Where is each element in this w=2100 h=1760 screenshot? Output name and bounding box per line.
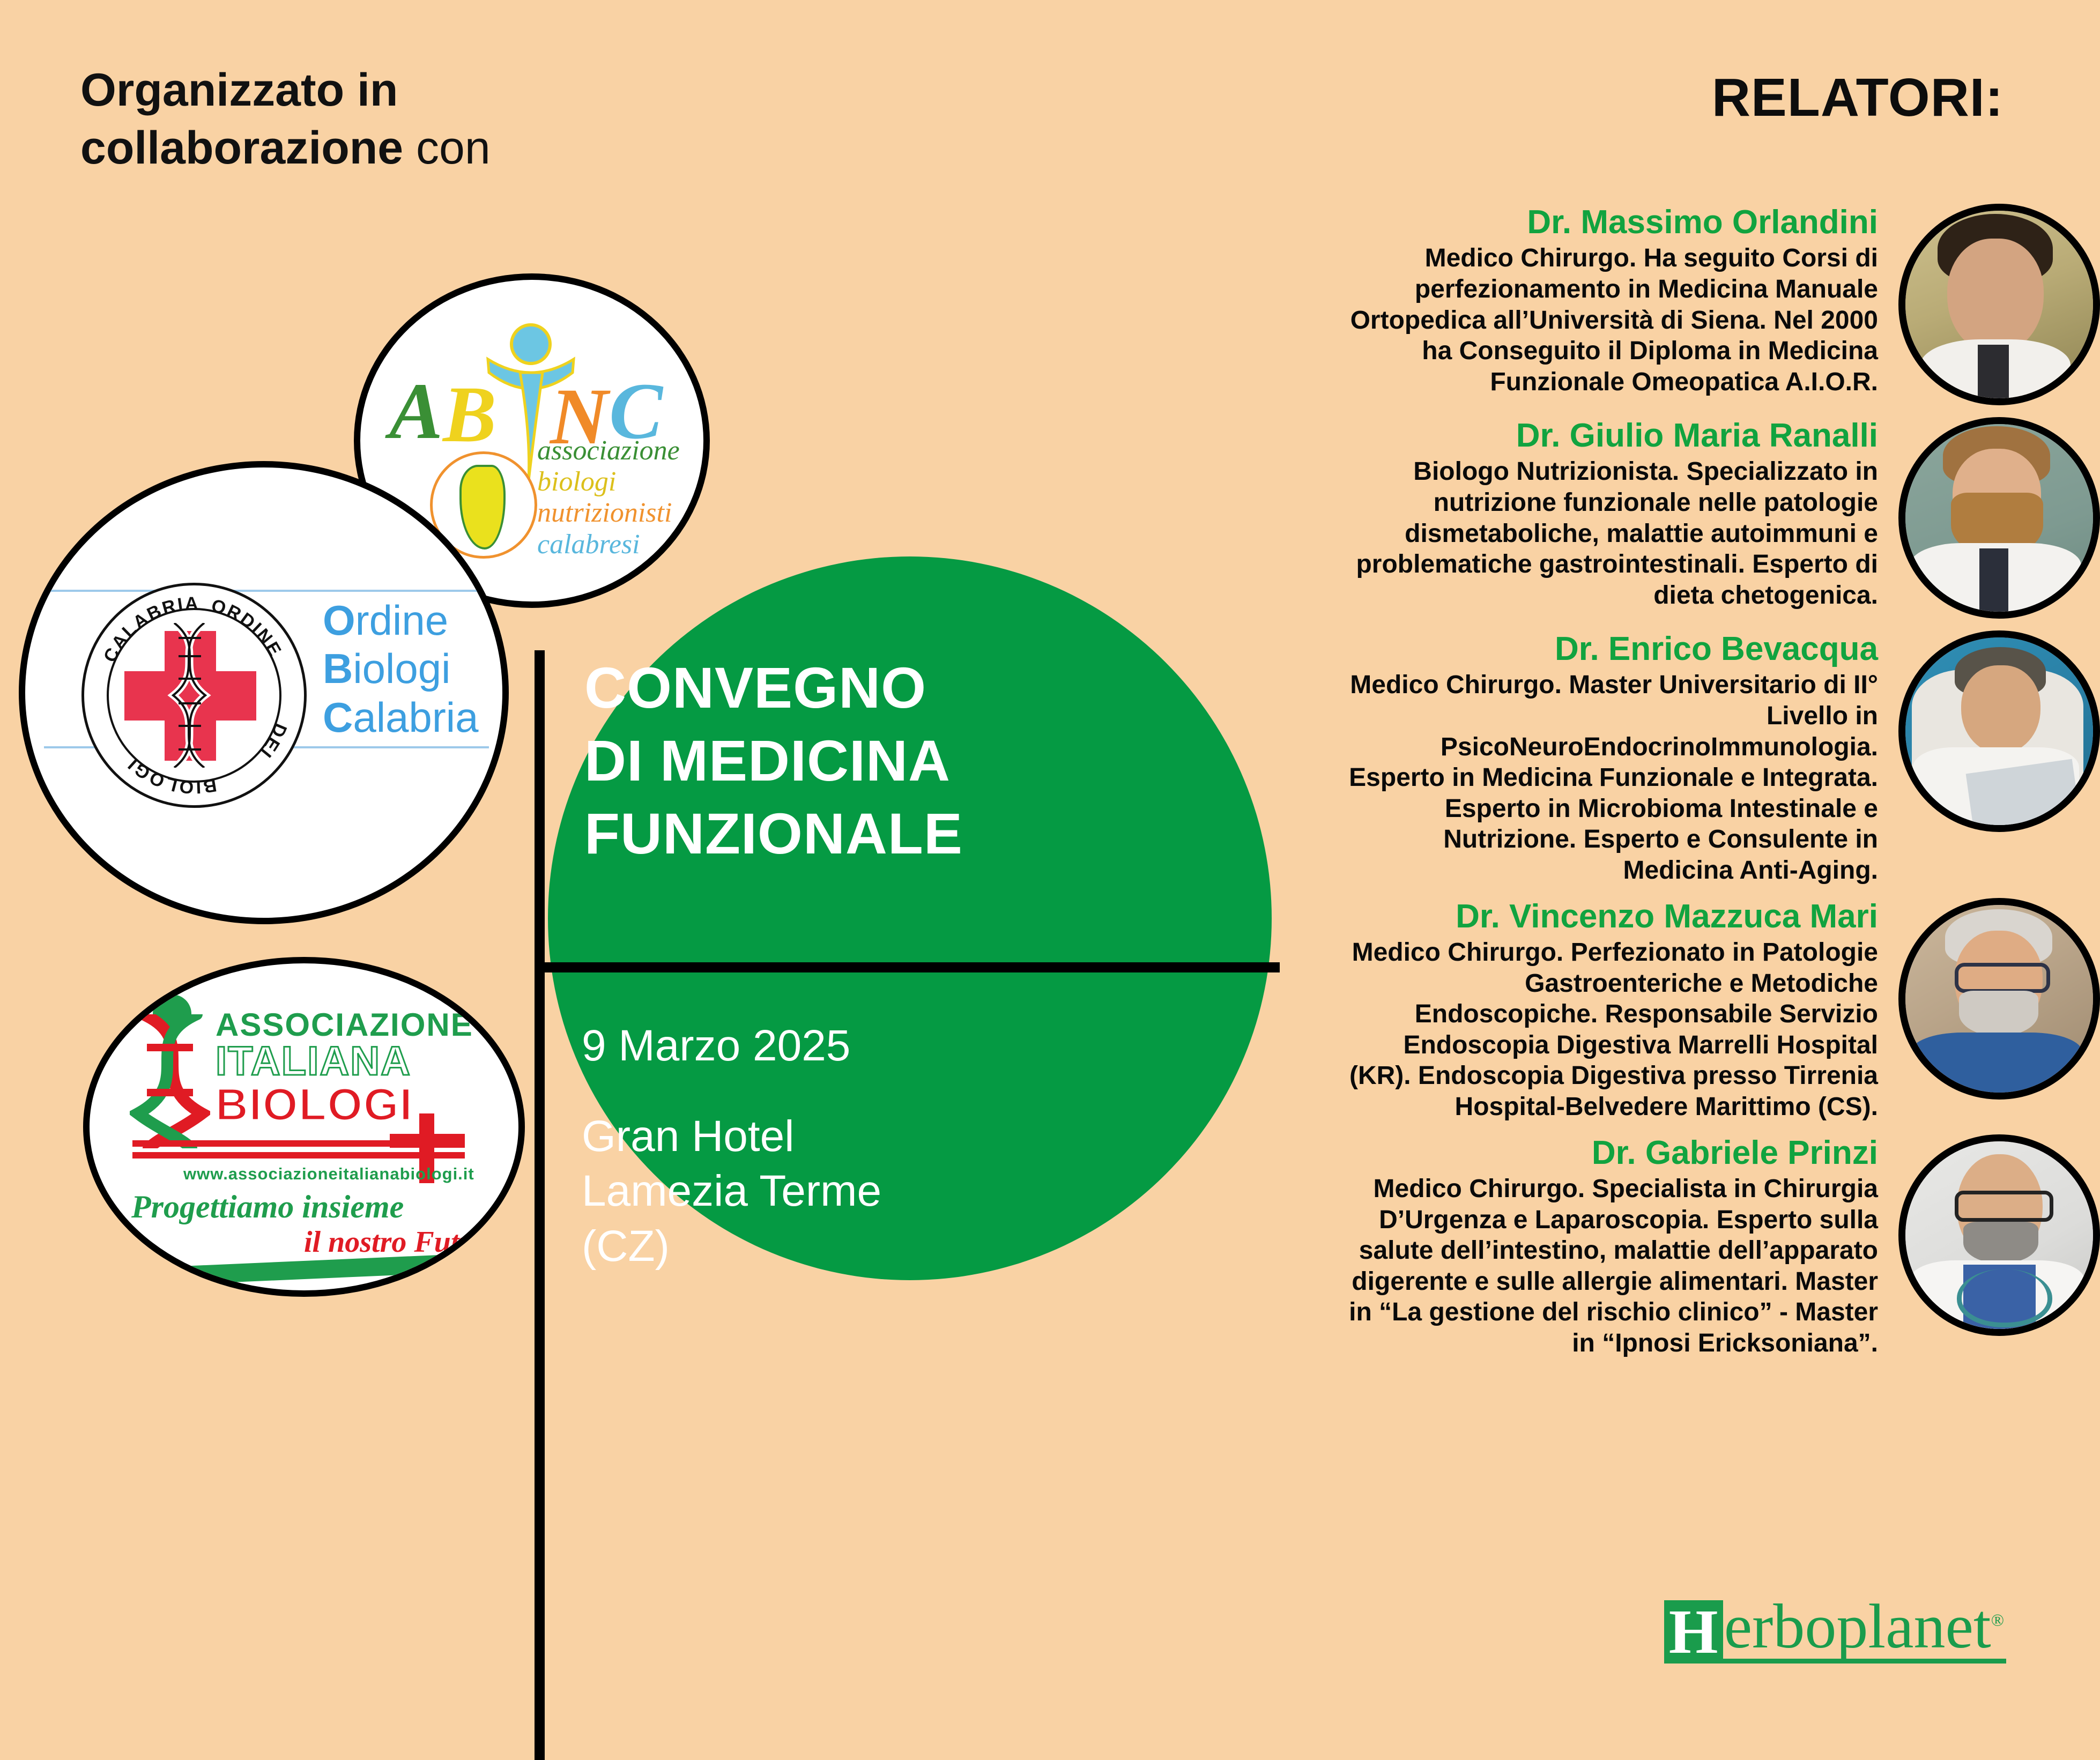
event-title-line-1: CONVEGNO: [584, 651, 1201, 724]
speaker-card: Dr. Massimo Orlandini Medico Chirurgo. H…: [1231, 204, 2100, 405]
speaker-text: Dr. Enrico Bevacqua Medico Chirurgo. Mas…: [1342, 630, 1898, 886]
aib-wordmark: ASSOCIAZIONE ITALIANA BIOLOGI: [216, 1009, 468, 1127]
speaker-name: Dr. Gabriele Prinzi: [1342, 1134, 1878, 1171]
event-title-line-3: FUNZIONALE: [584, 797, 1201, 870]
organizer-line-2-strong: collaborazione: [80, 122, 403, 174]
sponsor-logo-herboplanet: H erboplanet®: [1664, 1596, 2006, 1664]
speaker-bio: Medico Chirurgo. Master Universitario di…: [1342, 670, 1878, 886]
event-venue-line-1: Gran Hotel: [582, 1109, 1198, 1164]
obc-ring-ordine: ORDINE: [209, 595, 286, 660]
herboplanet-wordmark: erboplanet®: [1723, 1596, 2006, 1664]
aib-flag-red-stripe: [90, 1289, 519, 1297]
obc-ring-dei: DEI: [255, 721, 291, 763]
aib-cross-horizontal: [390, 1134, 465, 1148]
speaker-name: Dr. Enrico Bevacqua: [1342, 630, 1878, 667]
svg-text:CALABRIA: CALABRIA: [100, 593, 200, 666]
svg-text:BIOLOGI: BIOLOGI: [123, 753, 218, 797]
event-venue-line-2: Lamezia Terme: [582, 1164, 1198, 1219]
speaker-card: Dr. Enrico Bevacqua Medico Chirurgo. Mas…: [1231, 630, 2100, 886]
poster-canvas: Organizzato in collaborazione con RELATO…: [0, 0, 2100, 1760]
obc-word-calabria: Calabria: [323, 693, 500, 741]
speaker-text: Dr. Massimo Orlandini Medico Chirurgo. H…: [1342, 204, 1898, 397]
svg-text:ORDINE: ORDINE: [209, 595, 286, 660]
organizer-line-2-light: con: [403, 122, 491, 174]
organizer-line-1: Organizzato in: [80, 62, 617, 120]
obc-ring-text: CALABRIA ORDINE DEI BIOLOGI: [84, 585, 304, 805]
event-title: CONVEGNO DI MEDICINA FUNZIONALE: [584, 651, 1201, 870]
speaker-avatar: [1898, 1134, 2100, 1336]
herboplanet-initial: H: [1669, 1605, 1718, 1659]
vertical-rule: [535, 650, 545, 1760]
obc-ring-biologi: BIOLOGI: [123, 753, 218, 797]
speaker-avatar: [1898, 630, 2100, 832]
event-title-line-2: DI MEDICINA: [584, 724, 1201, 797]
obc-word-biologi: Biologi: [323, 644, 500, 693]
speaker-avatar: [1898, 204, 2100, 405]
speaker-text: Dr. Giulio Maria Ranalli Biologo Nutrizi…: [1342, 417, 1898, 611]
abnc-tag-line-4: calabresi: [537, 529, 693, 560]
horizontal-rule: [535, 962, 1280, 972]
logo-associazione-italiana-biologi: ASSOCIAZIONE ITALIANA BIOLOGI www.associ…: [83, 957, 525, 1297]
speaker-name: Dr. Giulio Maria Ranalli: [1342, 417, 1878, 454]
aib-line-2: ITALIANA: [216, 1041, 468, 1082]
abnc-tag-line-2: biologi: [537, 466, 693, 497]
logo-ordine-biologi-calabria: CALABRIA ORDINE DEI BIOLOGI Ordine Biolo…: [19, 461, 509, 924]
speaker-bio: Biologo Nutrizionista. Specializzato in …: [1342, 456, 1878, 611]
speaker-bio: Medico Chirurgo. Ha seguito Corsi di per…: [1342, 243, 1878, 397]
abnc-tag-line-3: nutrizionisti: [537, 497, 693, 529]
obc-ring-calabria: CALABRIA: [100, 593, 200, 666]
obc-word-ordine: Ordine: [323, 596, 500, 644]
speaker-avatar: [1898, 898, 2100, 1100]
dna-helix-icon: [130, 1014, 210, 1148]
registered-mark-icon: ®: [1991, 1610, 2004, 1630]
herboplanet-initial-box: H: [1664, 1600, 1723, 1664]
organizer-line-2: collaborazione con: [80, 120, 617, 177]
event-meta: 9 Marzo 2025 Gran Hotel Lamezia Terme (C…: [582, 1019, 1198, 1274]
event-date: 9 Marzo 2025: [582, 1019, 1198, 1074]
speaker-text: Dr. Vincenzo Mazzuca Mari Medico Chirurg…: [1342, 898, 1898, 1123]
aib-line-1: ASSOCIAZIONE: [216, 1009, 468, 1041]
speaker-bio: Medico Chirurgo. Perfezionato in Patolog…: [1342, 937, 1878, 1123]
svg-text:DEI: DEI: [255, 721, 291, 763]
aib-website-url: www.associazioneitalianabiologi.it: [183, 1164, 474, 1184]
obc-wordmark: Ordine Biologi Calabria: [323, 596, 500, 741]
speaker-bio: Medico Chirurgo. Specialista in Chirurgi…: [1342, 1174, 1878, 1359]
speaker-card: Dr. Giulio Maria Ranalli Biologo Nutrizi…: [1231, 417, 2100, 619]
speakers-list: Dr. Massimo Orlandini Medico Chirurgo. H…: [1231, 204, 2100, 1371]
speaker-card: Dr. Gabriele Prinzi Medico Chirurgo. Spe…: [1231, 1134, 2100, 1359]
speaker-name: Dr. Massimo Orlandini: [1342, 204, 1878, 241]
speaker-name: Dr. Vincenzo Mazzuca Mari: [1342, 898, 1878, 935]
obc-seal: CALABRIA ORDINE DEI BIOLOGI: [81, 583, 307, 808]
event-venue-line-3: (CZ): [582, 1219, 1198, 1274]
speaker-card: Dr. Vincenzo Mazzuca Mari Medico Chirurg…: [1231, 898, 2100, 1123]
abnc-tag-line-1: associazione: [537, 435, 693, 466]
organizer-heading: Organizzato in collaborazione con: [80, 62, 617, 177]
relatori-heading: RELATORI:: [1712, 67, 2003, 129]
aib-slogan-line-1: Progettiamo insieme: [131, 1189, 404, 1226]
speaker-text: Dr. Gabriele Prinzi Medico Chirurgo. Spe…: [1342, 1134, 1898, 1359]
abnc-letter-a: A: [389, 371, 443, 451]
speaker-avatar: [1898, 417, 2100, 619]
abnc-tagline: associazione biologi nutrizionisti calab…: [537, 435, 693, 560]
